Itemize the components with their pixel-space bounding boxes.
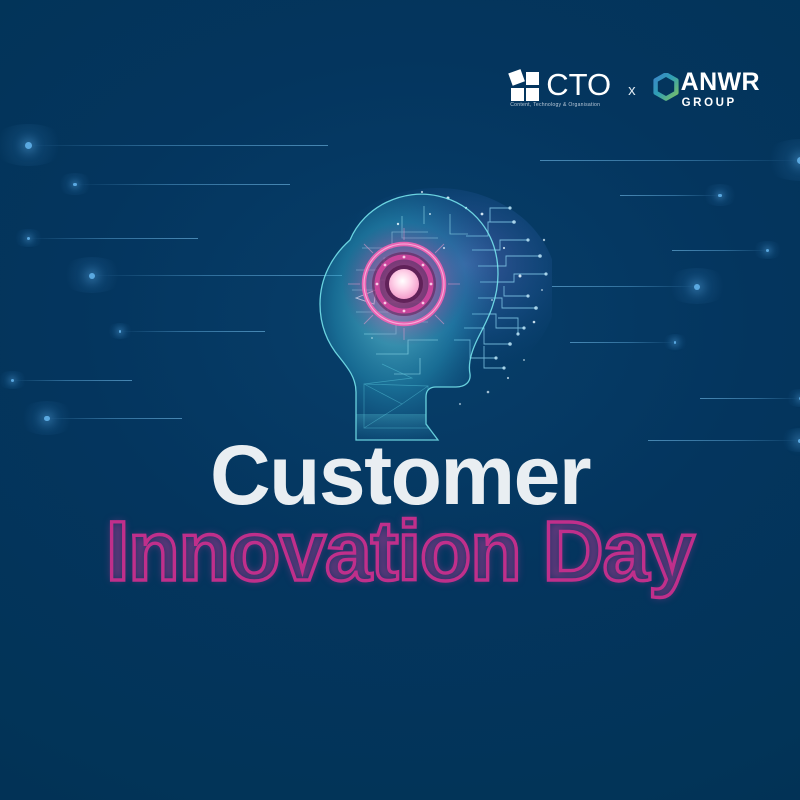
background-streak-glow [106, 323, 134, 338]
background-streak-dot [119, 330, 122, 333]
anwr-logo[interactable]: ANWR GROUP [653, 70, 760, 110]
background-streak-glow [784, 389, 800, 407]
background-streak-dot [89, 273, 95, 279]
background-streak-dot [718, 194, 722, 198]
background-streak-glow [0, 371, 29, 389]
background-streak-dot [766, 249, 769, 252]
background-streak-line [672, 250, 767, 251]
background-streak-dot [27, 237, 30, 240]
partner-separator: x [628, 82, 636, 99]
anwr-wordmark: ANWR [681, 70, 760, 95]
background-streak-line [700, 398, 800, 399]
background-streak-glow [661, 334, 689, 349]
background-streak-glow [17, 401, 78, 434]
background-streak-line [552, 286, 697, 287]
background-streak-line [120, 331, 265, 332]
background-streak-glow [56, 173, 95, 194]
background-streak-line [28, 145, 328, 146]
background-streak-dot [25, 142, 32, 149]
background-streak-glow [0, 124, 67, 166]
anwr-hexagon-ring-icon [653, 73, 679, 106]
partner-logo-bar: CTO Content, Technology & Organisation x [510, 70, 760, 110]
background-streak-dot [694, 284, 700, 290]
background-streak-dot [674, 341, 677, 344]
background-streak-dot [797, 157, 800, 164]
background-streak-dot [44, 416, 50, 422]
background-streak-glow [664, 268, 730, 304]
event-poster: CTO Content, Technology & Organisation x [0, 0, 800, 800]
cto-squares-icon [510, 71, 540, 101]
background-streak-line [28, 238, 198, 239]
background-streak-glow [701, 184, 740, 205]
background-streak-line [12, 380, 132, 381]
background-streak-dot [11, 379, 14, 382]
cto-tagline: Content, Technology & Organisation [510, 102, 611, 109]
title-line-2: Innovation Day [0, 508, 800, 594]
title-block: Customer Innovation Day [0, 432, 800, 594]
background-streak-glow [762, 139, 800, 181]
cto-logo[interactable]: CTO Content, Technology & Organisation [510, 70, 611, 109]
ai-head-circuit-illustration [252, 178, 552, 448]
background-streak-line [47, 418, 182, 419]
background-streak-glow [751, 241, 784, 259]
background-streak-line [540, 160, 800, 161]
background-streak-line [570, 342, 675, 343]
anwr-subtitle: GROUP [682, 98, 760, 110]
background-streak-line [620, 195, 720, 196]
background-streak-glow [12, 229, 45, 247]
cto-wordmark: CTO [546, 70, 611, 100]
background-streak-dot [73, 183, 77, 187]
background-streak-glow [59, 257, 125, 293]
